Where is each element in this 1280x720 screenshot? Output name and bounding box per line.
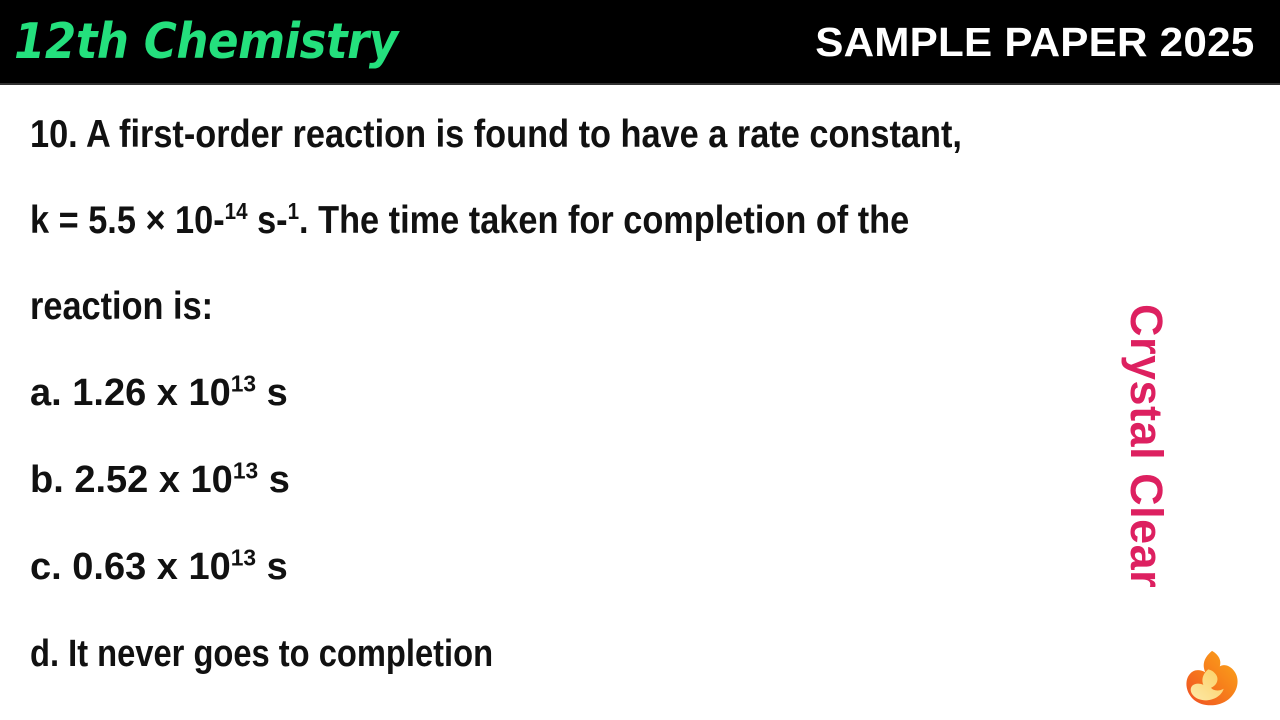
option-a-exponent: 13 [231,370,256,396]
option-a[interactable]: a. 1.26 x 1013 s [30,371,288,415]
option-c-exponent: 13 [231,544,256,570]
paper-title: SAMPLE PAPER 2025 [815,14,1254,70]
option-d-text: d. It never goes to completion [30,633,493,675]
watermark-brand-text: Crystal Clear [1118,300,1174,588]
sample-paper-slide: 12th Chemistry SAMPLE PAPER 2025 10. A f… [0,0,1280,720]
option-b-unit: s [258,459,290,501]
question-line-1: 10. A first-order reaction is found to h… [30,113,962,157]
option-c-text: c. 0.63 x 10 [30,546,231,588]
question-line-2-pre: k = 5.5 × 10- [30,199,225,242]
question-line-2-mid: s- [248,199,288,242]
question-line-2-post: . The time taken for completion of the [299,199,909,242]
watermark: Crystal Clear [1174,300,1234,660]
option-a-unit: s [256,372,288,414]
option-c-unit: s [256,546,288,588]
header-bar: 12th Chemistry SAMPLE PAPER 2025 [0,0,1280,85]
option-b[interactable]: b. 2.52 x 1013 s [30,458,290,502]
exponent-minus-14: 14 [225,198,248,224]
question-line-3: reaction is: [30,285,213,329]
exponent-minus-1: 1 [288,198,299,224]
option-b-text: b. 2.52 x 10 [30,459,233,501]
subject-title: 12th Chemistry [14,10,398,74]
option-b-exponent: 13 [233,457,258,483]
option-a-text: a. 1.26 x 10 [30,372,231,414]
question-body: 10. A first-order reaction is found to h… [0,85,1280,720]
option-d[interactable]: d. It never goes to completion [30,632,493,676]
option-c[interactable]: c. 0.63 x 1013 s [30,545,288,589]
flame-icon [1182,648,1244,710]
question-line-2: k = 5.5 × 10-14 s-1. The time taken for … [30,199,909,243]
